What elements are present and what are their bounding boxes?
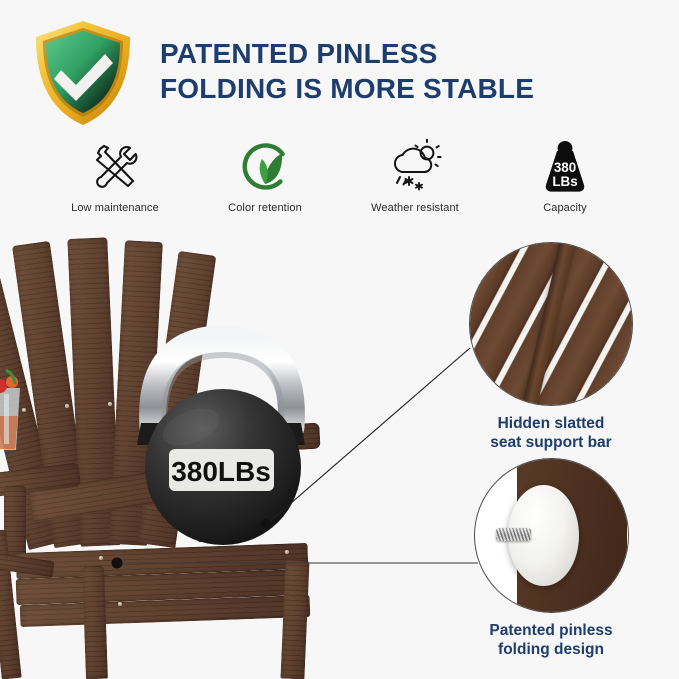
callout-title: Patented pinless folding design xyxy=(437,622,665,659)
shield-check-icon xyxy=(31,18,135,128)
page-title: PATENTED PINLESS FOLDING IS MORE STABLE xyxy=(160,36,660,107)
product-photo-area: 380LBs Hidden slatted seat support bar xyxy=(0,230,679,679)
feature-weather-resistant: Weather resistant xyxy=(340,138,490,214)
rivet xyxy=(285,550,289,554)
diagonal-slats-detail xyxy=(469,242,633,406)
cloud-sun-snow-icon xyxy=(386,138,444,194)
leaf-circle-icon xyxy=(238,138,292,194)
feature-label: Low maintenance xyxy=(71,202,159,214)
weight-380lbs-icon: 380 LBs xyxy=(538,138,592,194)
callout-hidden-slatted-seat-support-bar: Hidden slatted seat support bar xyxy=(437,242,665,452)
rivet xyxy=(99,556,103,560)
header-band: PATENTED PINLESS FOLDING IS MORE STABLE xyxy=(0,0,679,135)
kettlebell-icon: 380LBs xyxy=(119,315,324,550)
feature-capacity: 380 LBs Capacity xyxy=(490,138,640,214)
callout-title: Hidden slatted seat support bar xyxy=(437,415,665,452)
drink-in-cup-holder xyxy=(0,360,30,470)
headline-line-2: FOLDING IS MORE STABLE xyxy=(160,71,660,106)
feature-label: Weather resistant xyxy=(371,202,459,214)
svg-text:380: 380 xyxy=(554,160,576,175)
rivet xyxy=(108,402,112,406)
threaded-bolt xyxy=(496,528,531,541)
svg-text:LBs: LBs xyxy=(552,174,577,189)
infographic-canvas: PATENTED PINLESS FOLDING IS MORE STABLE … xyxy=(0,0,679,679)
kettlebell-weight-label: 380LBs xyxy=(171,456,271,487)
callout-patented-pinless-folding-design: Patented pinless folding design xyxy=(437,458,665,659)
pinless-disc-bolt-detail xyxy=(474,458,629,613)
rivet xyxy=(65,404,69,408)
feature-color-retention: Color retention xyxy=(190,138,340,214)
feature-low-maintenance: Low maintenance xyxy=(40,138,190,214)
feature-label: Color retention xyxy=(228,202,302,214)
feature-label: Capacity xyxy=(543,202,587,214)
rivet xyxy=(118,602,122,606)
feature-list: Low maintenance Color retention xyxy=(40,138,640,228)
wrench-screwdriver-icon xyxy=(88,138,142,194)
front-leg-right xyxy=(280,560,309,679)
headline-line-1: PATENTED PINLESS xyxy=(160,36,660,71)
front-leg-left xyxy=(82,566,108,679)
